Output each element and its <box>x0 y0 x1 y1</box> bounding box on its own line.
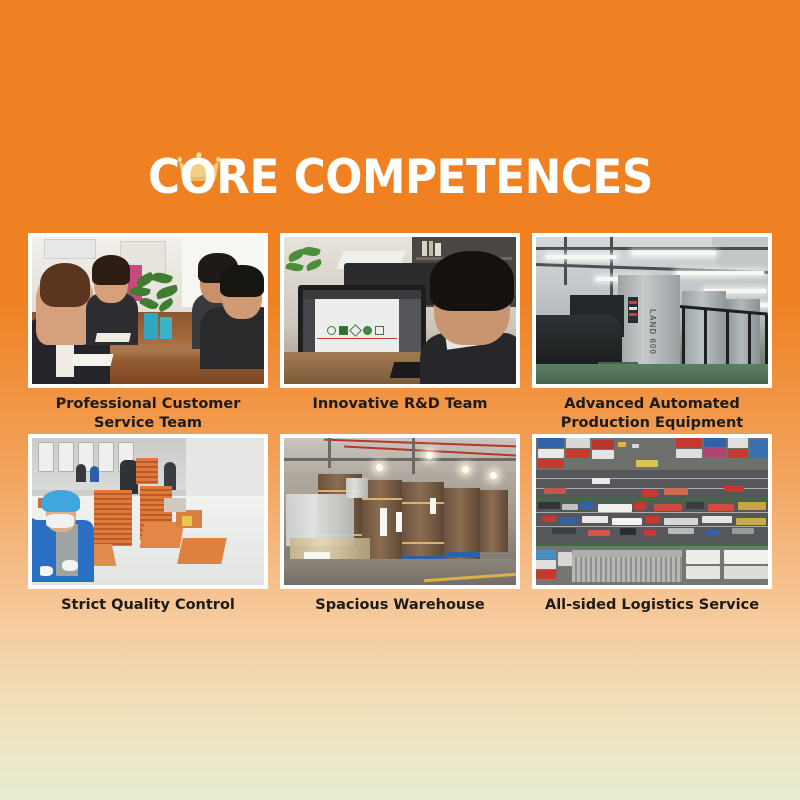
core-competences-poster: CORE COMPETENCES <box>0 0 800 800</box>
competence-card-advanced-automated-production-equipment[interactable]: LAND 600 <box>532 233 772 434</box>
competence-card-innovative-rd-team[interactable]: Innovative R&D Team <box>280 233 520 434</box>
photo-frame <box>532 434 772 589</box>
competence-card-professional-customer-service-team[interactable]: Professional Customer Service Team <box>28 233 268 434</box>
caption-all-sided-logistics-service: All-sided Logistics Service <box>532 589 772 635</box>
caption-advanced-automated-production-equipment: Advanced Automated Production Equipment <box>532 388 772 434</box>
photo-frame <box>280 434 520 589</box>
caption-strict-quality-control: Strict Quality Control <box>28 589 268 635</box>
photo-spacious-warehouse <box>284 438 516 585</box>
page-title-block: CORE COMPETENCES <box>0 150 800 206</box>
photo-frame: LAND 600 <box>532 233 772 388</box>
photo-strict-quality-control <box>32 438 264 585</box>
photo-frame <box>280 233 520 388</box>
competence-card-spacious-warehouse[interactable]: Spacious Warehouse <box>280 434 520 635</box>
caption-professional-customer-service-team: Professional Customer Service Team <box>28 388 268 434</box>
competence-grid: Professional Customer Service Team <box>28 233 772 635</box>
caption-spacious-warehouse: Spacious Warehouse <box>280 589 520 635</box>
photo-innovative-rd-team <box>284 237 516 384</box>
photo-professional-customer-service-team <box>32 237 264 384</box>
photo-all-sided-logistics-service <box>536 438 768 585</box>
page-title: CORE COMPETENCES <box>148 150 653 206</box>
press-model-text: LAND 600 <box>648 309 657 355</box>
caption-innovative-rd-team: Innovative R&D Team <box>280 388 520 434</box>
competence-card-all-sided-logistics-service[interactable]: All-sided Logistics Service <box>532 434 772 635</box>
photo-frame <box>28 434 268 589</box>
competence-card-strict-quality-control[interactable]: Strict Quality Control <box>28 434 268 635</box>
photo-frame <box>28 233 268 388</box>
photo-advanced-automated-production-equipment: LAND 600 <box>536 237 768 384</box>
